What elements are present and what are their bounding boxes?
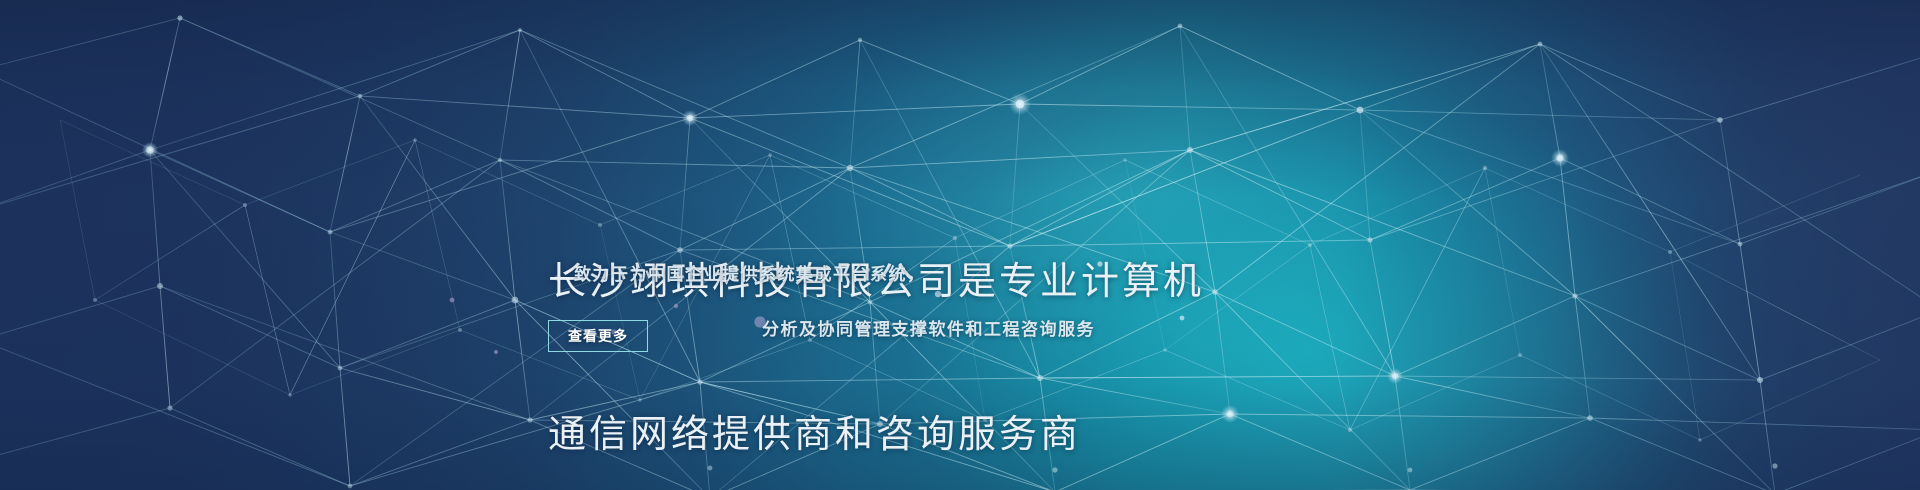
subtitle-line-2: 分析及协同管理支撑软件和工程咨询服务 (762, 315, 1095, 340)
hero-banner: 长沙翊琪科技有限公司是专业计算机 通信网络提供商和咨询服务商 致力于为中国企业提… (0, 0, 1920, 490)
banner-content: 长沙翊琪科技有限公司是专业计算机 通信网络提供商和咨询服务商 致力于为中国企业提… (0, 0, 1920, 490)
view-more-button[interactable]: 查看更多 (548, 320, 648, 352)
subtitle-line-1: 致力于为中国企业提供系统集成平台系统， (574, 260, 926, 285)
headline-line-2: 通信网络提供商和咨询服务商 (548, 410, 1204, 461)
